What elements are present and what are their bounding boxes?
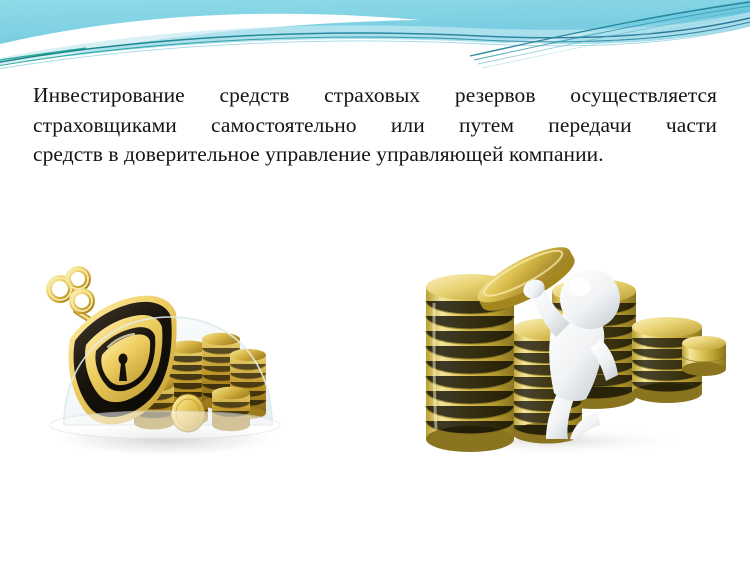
text-line-3: средств в доверительное управление управ… [33, 140, 717, 170]
slide-body-text: Инвестирование средств страховых резерво… [33, 81, 717, 170]
figure-holding-coin-illustration [404, 243, 730, 465]
text-line-1: Инвестирование средств страховых резерво… [33, 81, 717, 111]
coin-stack [682, 336, 726, 376]
shield-key-coins-illustration [30, 243, 298, 465]
slide-canvas: Инвестирование средств страховых резерво… [0, 0, 750, 561]
text-line-2: страховщиками самостоятельно или путем п… [33, 111, 717, 141]
paragraph: Инвестирование средств страховых резерво… [33, 81, 717, 170]
decorative-wave-banner [0, 0, 750, 80]
